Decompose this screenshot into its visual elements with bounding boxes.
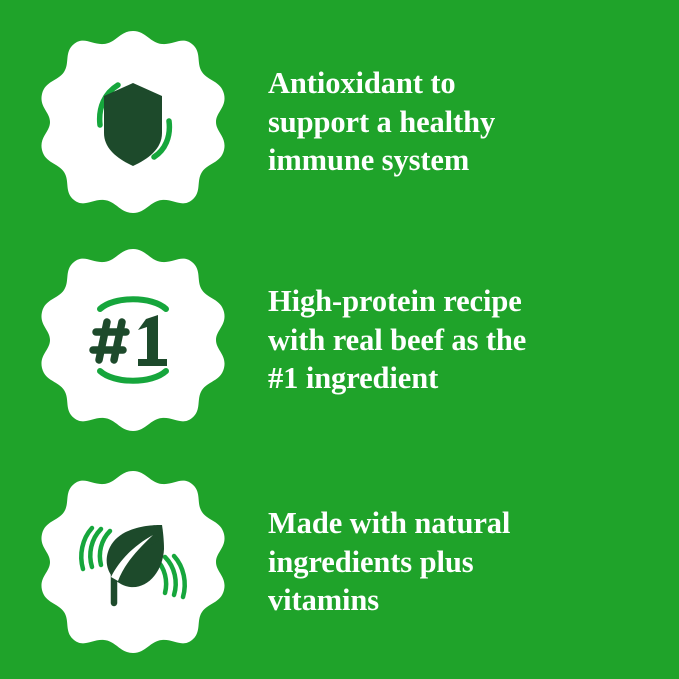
benefit-text-antioxidant: Antioxidant to support a healthy immune … <box>268 64 495 179</box>
benefit-text-line: #1 ingredient <box>268 359 526 397</box>
benefit-text-line: vitamins <box>268 581 510 619</box>
benefit-row: High-protein recipe with real beef as th… <box>0 240 679 440</box>
benefit-text-line: with real beef as the <box>268 321 526 359</box>
benefit-text-line: Made with natural <box>268 504 510 542</box>
benefits-panel: Antioxidant to support a healthy immune … <box>0 0 679 679</box>
benefit-text-line: immune system <box>268 141 495 179</box>
benefit-text-line: support a healthy <box>268 103 495 141</box>
badge-antioxidant <box>38 27 228 217</box>
benefit-text-line: Antioxidant to <box>268 64 495 102</box>
number-one-icon <box>74 281 192 399</box>
benefit-text-line: High-protein recipe <box>268 282 526 320</box>
benefit-text-natural: Made with natural ingredients plus vitam… <box>268 504 510 619</box>
leaf-icon <box>74 503 192 621</box>
benefit-text-high-protein: High-protein recipe with real beef as th… <box>268 282 526 397</box>
badge-natural-ingredients <box>38 467 228 657</box>
benefit-row: Made with natural ingredients plus vitam… <box>0 462 679 662</box>
benefit-row: Antioxidant to support a healthy immune … <box>0 22 679 222</box>
badge-high-protein <box>38 245 228 435</box>
benefit-text-line: ingredients plus <box>268 543 510 581</box>
shield-icon <box>74 63 192 181</box>
